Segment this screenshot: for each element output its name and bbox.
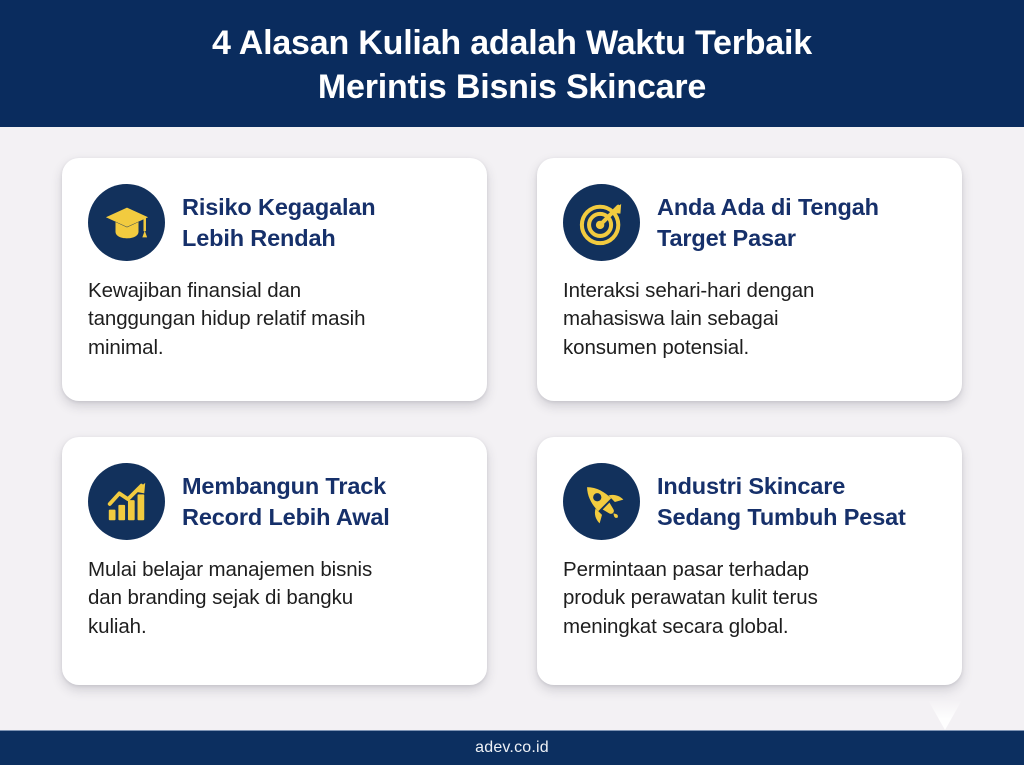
reason-card[interactable]: Anda Ada di Tengah Target Pasar Interaks… — [537, 158, 962, 401]
card-title: Risiko Kegagalan Lebih Rendah — [182, 192, 376, 253]
footer-bar: adev.co.id — [0, 730, 1024, 765]
card-header: Anda Ada di Tengah Target Pasar — [563, 184, 936, 261]
target-arrow-icon — [563, 184, 640, 261]
graduation-cap-icon — [88, 184, 165, 261]
card-description-line-1: Kewajiban finansial dan — [88, 277, 461, 305]
card-description-line-3: meningkat secara global. — [563, 613, 936, 641]
card-description: Kewajiban finansial dan tanggungan hidup… — [88, 277, 461, 362]
decorative-notch — [928, 700, 962, 730]
card-description-line-1: Mulai belajar manajemen bisnis — [88, 556, 461, 584]
infographic-poster: 4 Alasan Kuliah adalah Waktu Terbaik Mer… — [0, 0, 1024, 765]
card-title: Industri Skincare Sedang Tumbuh Pesat — [657, 471, 906, 532]
card-description: Permintaan pasar terhadap produk perawat… — [563, 556, 936, 641]
card-title-line-1: Risiko Kegagalan — [182, 192, 376, 223]
card-description-line-2: tanggungan hidup relatif masih — [88, 305, 461, 333]
header-banner: 4 Alasan Kuliah adalah Waktu Terbaik Mer… — [0, 0, 1024, 127]
card-description-line-3: minimal. — [88, 334, 461, 362]
card-title-line-2: Lebih Rendah — [182, 223, 376, 254]
card-description-line-2: dan branding sejak di bangku — [88, 584, 461, 612]
card-title: Anda Ada di Tengah Target Pasar — [657, 192, 879, 253]
page-title: 4 Alasan Kuliah adalah Waktu Terbaik Mer… — [82, 22, 942, 109]
card-description-line-3: konsumen potensial. — [563, 334, 936, 362]
cards-section: Risiko Kegagalan Lebih Rendah Kewajiban … — [0, 127, 1024, 730]
growth-chart-icon — [88, 463, 165, 540]
card-title-line-1: Membangun Track — [182, 471, 390, 502]
card-header: Membangun Track Record Lebih Awal — [88, 463, 461, 540]
card-title-line-2: Record Lebih Awal — [182, 502, 390, 533]
card-title-line-1: Anda Ada di Tengah — [657, 192, 879, 223]
card-description-line-1: Permintaan pasar terhadap — [563, 556, 936, 584]
footer-website-label: adev.co.id — [475, 739, 549, 757]
card-title-line-1: Industri Skincare — [657, 471, 906, 502]
card-description: Mulai belajar manajemen bisnis dan brand… — [88, 556, 461, 641]
card-description-line-3: kuliah. — [88, 613, 461, 641]
card-header: Risiko Kegagalan Lebih Rendah — [88, 184, 461, 261]
page-title-line-2: Merintis Bisnis Skincare — [82, 66, 942, 110]
card-description-line-2: produk perawatan kulit terus — [563, 584, 936, 612]
reason-card[interactable]: Risiko Kegagalan Lebih Rendah Kewajiban … — [62, 158, 487, 401]
rocket-icon — [563, 463, 640, 540]
card-title-line-2: Sedang Tumbuh Pesat — [657, 502, 906, 533]
card-description: Interaksi sehari-hari dengan mahasiswa l… — [563, 277, 936, 362]
card-description-line-1: Interaksi sehari-hari dengan — [563, 277, 936, 305]
reason-card[interactable]: Industri Skincare Sedang Tumbuh Pesat Pe… — [537, 437, 962, 685]
card-title-line-2: Target Pasar — [657, 223, 879, 254]
cards-grid: Risiko Kegagalan Lebih Rendah Kewajiban … — [62, 158, 962, 685]
page-title-line-1: 4 Alasan Kuliah adalah Waktu Terbaik — [82, 22, 942, 66]
reason-card[interactable]: Membangun Track Record Lebih Awal Mulai … — [62, 437, 487, 685]
card-title: Membangun Track Record Lebih Awal — [182, 471, 390, 532]
card-description-line-2: mahasiswa lain sebagai — [563, 305, 936, 333]
card-header: Industri Skincare Sedang Tumbuh Pesat — [563, 463, 936, 540]
